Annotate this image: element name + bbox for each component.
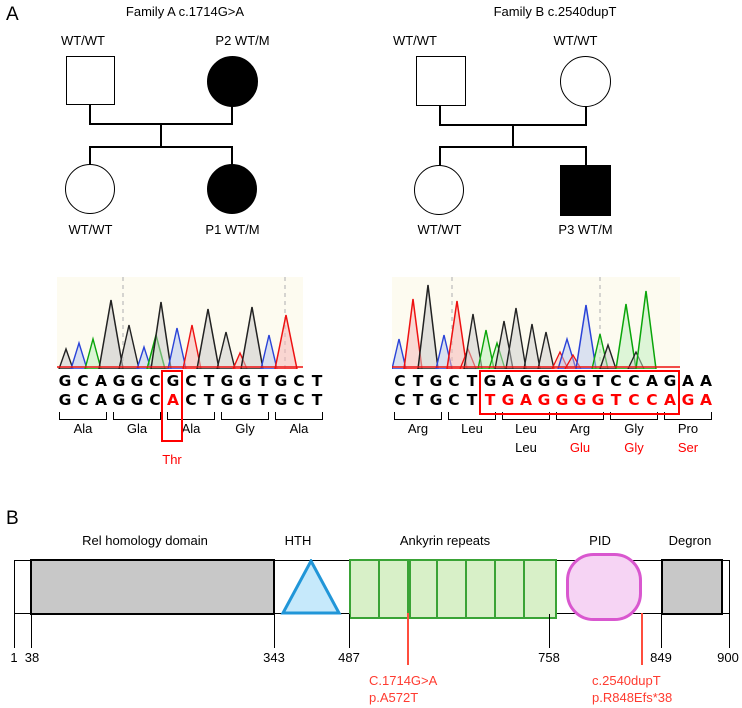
pedigree-a-daughter2-symbol <box>207 164 257 214</box>
base-boxed-top: G <box>164 372 182 391</box>
base: A <box>697 391 715 410</box>
family-b-codon-brackets: Arg Leu Leu Arg Gly Pro <box>391 410 715 437</box>
family-b-bottom-sequence: C T G C T T G A G G G G T C C A G A <box>391 391 715 410</box>
domain-label-ankyrin: Ankyrin repeats <box>350 533 540 548</box>
domain-pid <box>565 552 643 622</box>
codon-bracket <box>448 412 496 420</box>
pedigree-a-mother-descender <box>231 106 233 124</box>
base: C <box>445 391 463 410</box>
base: T <box>409 372 427 391</box>
ankyrin-repeat <box>523 559 557 619</box>
codon-group: Ala <box>272 410 326 437</box>
base: T <box>200 372 218 391</box>
pedigree-a-father-label: WT/WT <box>28 33 138 48</box>
base: G <box>427 391 445 410</box>
pedigree-a-sibship-line <box>89 146 233 148</box>
family-a-chromatogram <box>57 277 303 369</box>
codon-bracket <box>275 412 323 420</box>
base: C <box>290 391 308 410</box>
base: G <box>517 372 535 391</box>
codon-group: Arg <box>553 410 607 437</box>
domain-degron <box>661 559 723 615</box>
amino-acid-label: Ala <box>272 421 326 437</box>
base: A <box>499 372 517 391</box>
domain-rel-homology-domain <box>30 559 275 615</box>
base: G <box>535 391 553 410</box>
base: G <box>128 372 146 391</box>
pedigree-a-child1-riser <box>89 146 91 165</box>
amino-acid-label: Arg <box>391 421 445 437</box>
family-a-alt-amino-acid: Thr <box>135 452 209 467</box>
domain-label-pid: PID <box>555 533 645 548</box>
pedigree-a-father-descender <box>89 104 91 124</box>
codon-bracket <box>113 412 161 420</box>
base: G <box>218 391 236 410</box>
pedigree-a-mother-symbol <box>207 56 258 107</box>
codon-group: Gly <box>218 410 272 437</box>
codon-group: Gly <box>607 410 661 437</box>
family-b-top-sequence: C T G C T G A G G G G T C C A G A A <box>391 372 715 391</box>
base: T <box>463 391 481 410</box>
pedigree-b-child1-riser <box>439 146 441 166</box>
base: A <box>643 372 661 391</box>
amino-acid-label: Gla <box>110 421 164 437</box>
family-b-title: Family B c.2540dupT <box>455 4 655 19</box>
base: C <box>146 372 164 391</box>
base: A <box>661 391 679 410</box>
pedigree-a-mother-label: P2 WT/M <box>185 33 300 48</box>
family-b-sequence-block: C T G C T G A G G G G T C C A G A A C T … <box>391 372 715 456</box>
base: G <box>499 391 517 410</box>
mutation-label-1-protein: p.A572T <box>369 689 437 706</box>
codon-bracket <box>664 412 712 420</box>
alt-amino-acid-label: Gly <box>607 440 661 456</box>
base: G <box>128 391 146 410</box>
pedigree-a-sibship-drop <box>160 123 162 147</box>
mutation-label-1: C.1714G>A p.A572T <box>369 672 437 706</box>
family-a-sequence-block: G C A G G C G C T G G T G C T G C A G G … <box>56 372 326 437</box>
tick-label-343: 343 <box>256 650 292 665</box>
tick-label-758: 758 <box>531 650 567 665</box>
domain-label-rel-homology: Rel homology domain <box>30 533 260 548</box>
codon-bracket <box>610 412 658 420</box>
base: T <box>589 372 607 391</box>
base: G <box>56 391 74 410</box>
tick-label-900: 900 <box>709 650 742 665</box>
codon-bracket <box>221 412 269 420</box>
amino-acid-label: Leu <box>499 421 553 437</box>
base: T <box>481 391 499 410</box>
alt-amino-acid-label: Leu <box>499 440 553 456</box>
codon-bracket <box>167 412 215 420</box>
panel-a-letter: A <box>6 4 19 26</box>
family-b-chromatogram <box>392 277 680 369</box>
base: G <box>661 372 679 391</box>
tick-mark-38 <box>31 614 32 648</box>
pedigree-a-daughter2-label: P1 WT/M <box>175 222 290 237</box>
base: C <box>643 391 661 410</box>
base: A <box>517 391 535 410</box>
base: C <box>290 372 308 391</box>
domain-label-degron: Degron <box>645 533 735 548</box>
amino-acid-label: Arg <box>553 421 607 437</box>
alt-amino-acid-label <box>445 440 499 456</box>
tick-label-38: 38 <box>19 650 45 665</box>
pedigree-b-sibship-line <box>439 146 587 148</box>
amino-acid-label: Ala <box>56 421 110 437</box>
pedigree-b-son-label: P3 WT/M <box>528 222 643 237</box>
pedigree-b-daughter1-label: WT/WT <box>382 222 497 237</box>
base: C <box>74 391 92 410</box>
tick-mark-1 <box>14 614 15 648</box>
pedigree-b-mother-symbol <box>560 56 611 107</box>
base: G <box>218 372 236 391</box>
base: T <box>409 391 427 410</box>
base: T <box>254 391 272 410</box>
base: T <box>607 391 625 410</box>
family-a-codon-brackets: Ala Gla Ala Gly Ala <box>56 410 326 437</box>
mutation-label-2: c.2540dupT p.R848Efs*38 <box>592 672 672 706</box>
base: T <box>308 391 326 410</box>
pedigree-b-son-symbol <box>560 165 611 216</box>
alt-amino-acid-label <box>391 440 445 456</box>
codon-group: Gla <box>110 410 164 437</box>
amino-acid-label: Ala <box>164 421 218 437</box>
base: G <box>272 372 290 391</box>
base: G <box>236 391 254 410</box>
base: G <box>110 391 128 410</box>
base: G <box>535 372 553 391</box>
base: T <box>308 372 326 391</box>
base: C <box>625 372 643 391</box>
mutation-marker-line-2 <box>641 613 643 665</box>
pedigree-a-child2-riser <box>231 146 233 165</box>
amino-acid-label: Gly <box>218 421 272 437</box>
mutation-label-1-cdna: C.1714G>A <box>369 672 437 689</box>
base: G <box>481 372 499 391</box>
amino-acid-label: Pro <box>661 421 715 437</box>
codon-group: Leu <box>499 410 553 437</box>
base: T <box>463 372 481 391</box>
codon-group: Leu <box>445 410 499 437</box>
family-a-top-sequence: G C A G G C G C T G G T G C T <box>56 372 326 391</box>
domain-label-hth: HTH <box>258 533 338 548</box>
base: C <box>391 372 409 391</box>
pedigree-b-daughter1-symbol <box>414 165 464 215</box>
codon-group: Ala <box>164 410 218 437</box>
codon-group: Arg <box>391 410 445 437</box>
mutation-label-2-protein: p.R848Efs*38 <box>592 689 672 706</box>
panel-b-letter: B <box>6 508 19 530</box>
amino-acid-label: Leu <box>445 421 499 437</box>
tick-label-849: 849 <box>643 650 679 665</box>
base: C <box>391 391 409 410</box>
base: G <box>679 391 697 410</box>
base: G <box>589 391 607 410</box>
alt-amino-acid-label: Glu <box>553 440 607 456</box>
family-a-title: Family A c.1714G>A <box>85 4 285 19</box>
base: A <box>92 391 110 410</box>
pedigree-b-mother-label: WT/WT <box>518 33 633 48</box>
base: G <box>110 372 128 391</box>
base: G <box>571 372 589 391</box>
tick-label-487: 487 <box>331 650 367 665</box>
pedigree-b-sibship-drop <box>512 124 514 147</box>
domain-hth <box>280 559 342 615</box>
codon-bracket <box>59 412 107 420</box>
family-b-alt-amino-acid-row: Leu Glu Gly Ser <box>391 440 715 456</box>
pedigree-a-daughter1-label: WT/WT <box>33 222 148 237</box>
pedigree-a-daughter1-symbol <box>65 164 115 214</box>
tick-mark-900 <box>729 614 730 648</box>
amino-acid-label: Gly <box>607 421 661 437</box>
codon-bracket <box>394 412 442 420</box>
codon-group: Pro <box>661 410 715 437</box>
pedigree-b-father-label: WT/WT <box>360 33 470 48</box>
tick-mark-343 <box>274 614 275 648</box>
tick-mark-487 <box>349 614 350 648</box>
base: G <box>272 391 290 410</box>
pedigree-b-father-symbol <box>416 56 466 106</box>
domain-ankyrin-repeats <box>349 559 549 615</box>
mutation-marker-line-1 <box>407 613 409 665</box>
base: T <box>254 372 272 391</box>
family-a-bottom-sequence: G C A G G C A C T G G T G C T <box>56 391 326 410</box>
base: G <box>553 372 571 391</box>
base: C <box>445 372 463 391</box>
base: A <box>679 372 697 391</box>
base: C <box>182 391 200 410</box>
pedigree-a-father-symbol <box>66 56 115 105</box>
mutation-label-2-cdna: c.2540dupT <box>592 672 672 689</box>
codon-bracket <box>556 412 604 420</box>
base: G <box>427 372 445 391</box>
tick-mark-758 <box>549 614 550 648</box>
codon-bracket <box>502 412 550 420</box>
base: T <box>200 391 218 410</box>
pedigree-b-mother-descender <box>585 106 587 125</box>
alt-amino-acid-label: Ser <box>661 440 715 456</box>
base: G <box>553 391 571 410</box>
base: G <box>571 391 589 410</box>
pedigree-b-child2-riser <box>585 146 587 166</box>
base: C <box>625 391 643 410</box>
tick-mark-849 <box>661 614 662 648</box>
base: C <box>146 391 164 410</box>
base: C <box>74 372 92 391</box>
base: A <box>92 372 110 391</box>
base: C <box>182 372 200 391</box>
base: G <box>56 372 74 391</box>
base: C <box>607 372 625 391</box>
pedigree-b-father-descender <box>439 105 441 125</box>
codon-group: Ala <box>56 410 110 437</box>
base: A <box>697 372 715 391</box>
base-boxed-bottom: A <box>164 391 182 410</box>
base: G <box>236 372 254 391</box>
